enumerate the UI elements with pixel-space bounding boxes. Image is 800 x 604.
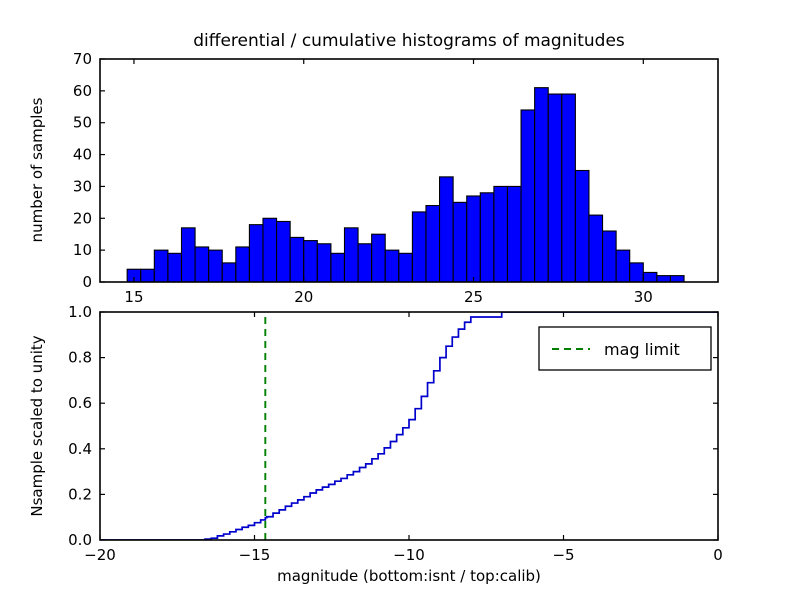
bottom-y-tick-label: 0.8 bbox=[68, 349, 92, 367]
histogram-bar bbox=[494, 186, 508, 282]
histogram-bar bbox=[535, 88, 549, 282]
bottom-x-tick-label: −15 bbox=[239, 546, 271, 564]
histogram-bar bbox=[467, 196, 481, 282]
histogram-bar bbox=[521, 110, 535, 282]
histogram-bar bbox=[372, 234, 386, 282]
histogram-bar bbox=[453, 202, 467, 282]
histogram-bar bbox=[440, 177, 454, 282]
top-y-tick-label: 60 bbox=[73, 82, 92, 100]
histogram-bar bbox=[480, 193, 494, 282]
histogram-bar bbox=[331, 253, 345, 282]
matplotlib-figure: differential / cumulative histograms of … bbox=[0, 0, 800, 600]
legend[interactable]: mag limit bbox=[539, 327, 711, 370]
histogram-bar bbox=[304, 241, 318, 282]
histogram-bar bbox=[263, 218, 277, 282]
histogram-bar bbox=[412, 212, 426, 282]
histogram-bar bbox=[426, 206, 440, 282]
histogram-bar bbox=[236, 247, 250, 282]
histogram-bar bbox=[548, 94, 562, 282]
bottom-y-axis-label: Nsample scaled to unity bbox=[28, 335, 46, 516]
top-y-tick-label: 10 bbox=[73, 241, 92, 259]
histogram-bar bbox=[399, 253, 413, 282]
bottom-x-tick-label: −10 bbox=[393, 546, 425, 564]
histogram-bar bbox=[385, 250, 399, 282]
histogram-bar bbox=[589, 215, 603, 282]
chart-canvas: differential / cumulative histograms of … bbox=[0, 0, 800, 600]
top-y-tick-label: 50 bbox=[73, 114, 92, 132]
histogram-bar bbox=[317, 244, 331, 282]
bottom-x-tick-label: −20 bbox=[84, 546, 116, 564]
top-y-axis-label: number of samples bbox=[28, 97, 46, 242]
top-x-tick-label: 25 bbox=[464, 288, 483, 306]
top-x-tick-label: 15 bbox=[124, 288, 143, 306]
histogram-bar bbox=[616, 250, 630, 282]
histogram-bar bbox=[222, 263, 236, 282]
bottom-y-tick-label: 1.0 bbox=[68, 303, 92, 321]
top-y-tick-label: 0 bbox=[82, 273, 92, 291]
histogram-bar bbox=[141, 269, 155, 282]
histogram-bar bbox=[209, 250, 223, 282]
bottom-y-tick-label: 0.6 bbox=[68, 394, 92, 412]
histogram-bar bbox=[290, 237, 304, 282]
bottom-x-tick-label: −5 bbox=[552, 546, 574, 564]
histogram-bar bbox=[277, 221, 291, 282]
figure-background bbox=[0, 0, 800, 600]
bottom-x-axis-label: magnitude (bottom:isnt / top:calib) bbox=[277, 567, 541, 585]
top-y-tick-label: 70 bbox=[73, 50, 92, 68]
bottom-y-tick-label: 0.4 bbox=[68, 440, 92, 458]
histogram-bar bbox=[358, 244, 372, 282]
histogram-bar bbox=[344, 228, 358, 282]
histogram-bar bbox=[562, 94, 576, 282]
bottom-y-tick-label: 0.2 bbox=[68, 485, 92, 503]
histogram-bar bbox=[670, 276, 684, 282]
top-x-tick-label: 30 bbox=[634, 288, 653, 306]
histogram-bar bbox=[657, 276, 671, 282]
histogram-bar bbox=[195, 247, 209, 282]
top-y-tick-label: 40 bbox=[73, 146, 92, 164]
top-y-tick-label: 20 bbox=[73, 209, 92, 227]
bottom-x-tick-label: 0 bbox=[713, 546, 723, 564]
histogram-bar bbox=[643, 272, 657, 282]
legend-label-mag-limit: mag limit bbox=[604, 340, 680, 359]
histogram-bar bbox=[168, 253, 182, 282]
histogram-bar bbox=[154, 250, 168, 282]
histogram-bar bbox=[575, 171, 589, 283]
histogram-bar bbox=[603, 231, 617, 282]
histogram-bar bbox=[181, 228, 195, 282]
histogram-bar bbox=[630, 263, 644, 282]
histogram-bar bbox=[249, 225, 263, 282]
page-title: differential / cumulative histograms of … bbox=[193, 31, 625, 51]
top-y-tick-label: 30 bbox=[73, 177, 92, 195]
top-x-tick-label: 20 bbox=[294, 288, 313, 306]
histogram-bar bbox=[507, 186, 521, 282]
